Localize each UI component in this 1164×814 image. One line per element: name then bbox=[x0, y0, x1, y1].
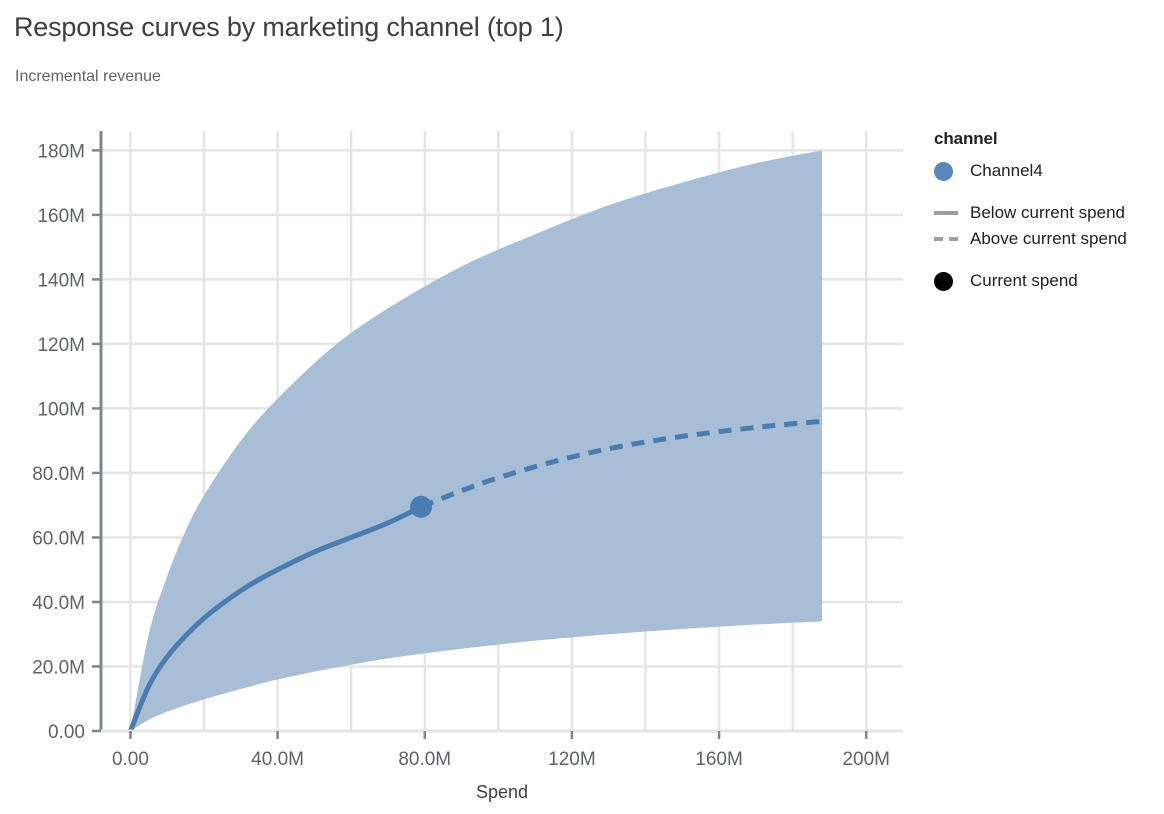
y-axis-tick-label: 0.00 bbox=[48, 722, 85, 743]
y-axis-tick-label: 100M bbox=[37, 399, 85, 420]
y-axis-tick-label: 140M bbox=[37, 270, 85, 291]
solid-line-icon bbox=[934, 211, 960, 215]
y-axis-ticks: 0.0020.0M40.0M60.0M80.0M100M120M140M160M… bbox=[32, 141, 101, 743]
legend-item-label: Below current spend bbox=[970, 203, 1125, 223]
x-axis-ticks: 0.0040.0M80.0M120M160M200M bbox=[112, 731, 890, 770]
legend-spacer bbox=[934, 252, 1164, 268]
y-axis-tick-label: 180M bbox=[37, 141, 85, 162]
y-axis-tick-label: 160M bbox=[37, 206, 85, 227]
dashed-line-icon bbox=[934, 237, 960, 241]
current-spend-dot[interactable] bbox=[410, 496, 432, 518]
y-axis-tick-label: 120M bbox=[37, 335, 85, 356]
x-axis-tick-label: 160M bbox=[695, 749, 743, 770]
legend-item-current-spend[interactable]: Current spend bbox=[934, 268, 1164, 294]
y-axis-tick-label: 20.0M bbox=[32, 657, 85, 678]
x-axis-tick-label: 80.0M bbox=[398, 749, 451, 770]
y-axis-tick-label: 60.0M bbox=[32, 528, 85, 549]
legend-spacer bbox=[934, 184, 1164, 200]
circle-icon bbox=[934, 162, 960, 181]
x-axis-tick-label: 40.0M bbox=[251, 749, 304, 770]
legend-item-label: Channel4 bbox=[970, 161, 1043, 181]
x-axis-tick-label: 120M bbox=[548, 749, 596, 770]
chart-container: Response curves by marketing channel (to… bbox=[0, 0, 1164, 814]
legend-item-channel4[interactable]: Channel4 bbox=[934, 158, 1164, 184]
x-axis-tick-label: 200M bbox=[842, 749, 890, 770]
legend-item-above-current-spend[interactable]: Above current spend bbox=[934, 226, 1164, 252]
plot-area: 0.0020.0M40.0M60.0M80.0M100M120M140M160M… bbox=[0, 0, 1164, 814]
x-axis-tick-label: 0.00 bbox=[112, 749, 149, 770]
legend-title: channel bbox=[934, 129, 1164, 149]
x-axis-title: Spend bbox=[476, 782, 528, 802]
legend-item-label: Above current spend bbox=[970, 229, 1127, 249]
y-axis-tick-label: 40.0M bbox=[32, 593, 85, 614]
circle-icon bbox=[934, 272, 960, 291]
legend-item-label: Current spend bbox=[970, 271, 1078, 291]
current-spend-marker[interactable] bbox=[410, 496, 432, 518]
legend-item-below-current-spend[interactable]: Below current spend bbox=[934, 200, 1164, 226]
y-axis-tick-label: 80.0M bbox=[32, 464, 85, 485]
legend: channel Channel4 Below current spend Abo… bbox=[934, 129, 1164, 294]
